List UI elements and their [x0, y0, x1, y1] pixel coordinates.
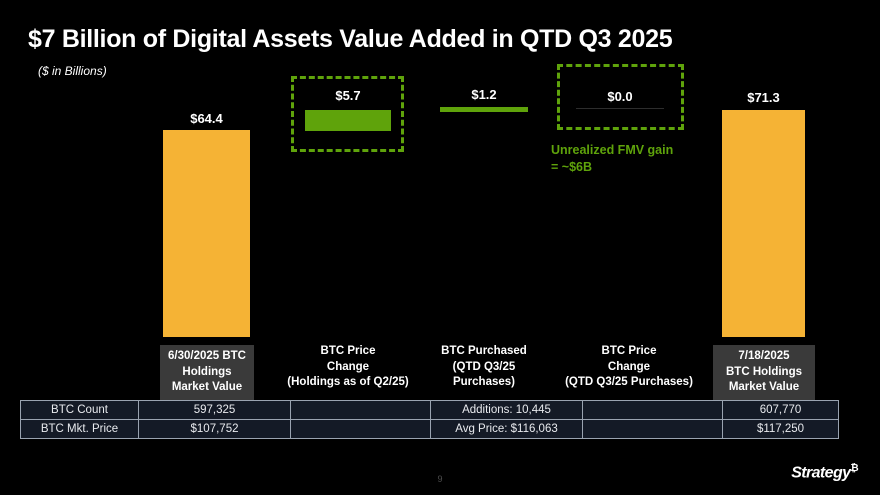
- table-row-1-cell-1: [291, 420, 431, 439]
- table-row-1-cell-4: $117,250: [723, 420, 839, 439]
- bar-2-btc-purchased-qtd-q3: [440, 107, 528, 112]
- bar-value-4: $71.3: [722, 90, 805, 105]
- bar-value-1: $5.7: [303, 88, 393, 103]
- btc-metrics-table: BTC Count 597,325 Additions: 10,445 607,…: [20, 400, 839, 439]
- table-row-1-cell-0: $107,752: [139, 420, 291, 439]
- slide-root: $7 Billion of Digital Assets Value Added…: [0, 0, 880, 495]
- bar-value-3: $0.0: [576, 89, 664, 104]
- category-label-0: 6/30/2025 BTC Holdings Market Value: [160, 345, 254, 400]
- table-row-1-cell-2: Avg Price: $116,063: [431, 420, 583, 439]
- table-row: BTC Mkt. Price $107,752 Avg Price: $116,…: [21, 420, 839, 439]
- waterfall-chart: $64.4 $5.7 $1.2 $0.0 $71.3 Unrealized FM…: [0, 0, 880, 440]
- table-row-1-label: BTC Mkt. Price: [21, 420, 139, 439]
- annotation-line-2: = ~$6B: [551, 159, 673, 176]
- category-label-3: BTC Price Change (QTD Q3/25 Purchases): [543, 344, 715, 391]
- bar-1-btc-price-change-q2: [305, 110, 391, 131]
- bar-value-2: $1.2: [440, 87, 528, 102]
- category-label-2: BTC Purchased (QTD Q3/25 Purchases): [418, 344, 550, 391]
- bar-3-btc-price-change-qtd-q3: [576, 108, 664, 109]
- bar-0-holdings-6-30-2025: [163, 130, 250, 337]
- page-number: 9: [0, 474, 880, 484]
- table-row-0-cell-3: [583, 401, 723, 420]
- bitcoin-icon: ₿: [850, 463, 858, 474]
- unrealized-fmv-gain-annotation: Unrealized FMV gain = ~$6B: [551, 142, 673, 176]
- bar-value-0: $64.4: [163, 111, 250, 126]
- logo-wordmark: Strategy: [791, 464, 850, 481]
- table-row-0-cell-4: 607,770: [723, 401, 839, 420]
- bar-4-holdings-7-18-2025: [722, 110, 805, 337]
- strategy-logo: Strategy₿: [791, 463, 858, 482]
- table-row-0-cell-2: Additions: 10,445: [431, 401, 583, 420]
- table-row-0-cell-0: 597,325: [139, 401, 291, 420]
- category-label-4: 7/18/2025 BTC Holdings Market Value: [713, 345, 815, 400]
- table-row: BTC Count 597,325 Additions: 10,445 607,…: [21, 401, 839, 420]
- table-row-0-label: BTC Count: [21, 401, 139, 420]
- table-row-0-cell-1: [291, 401, 431, 420]
- annotation-line-1: Unrealized FMV gain: [551, 142, 673, 159]
- category-label-1: BTC Price Change (Holdings as of Q2/25): [265, 344, 431, 391]
- table-row-1-cell-3: [583, 420, 723, 439]
